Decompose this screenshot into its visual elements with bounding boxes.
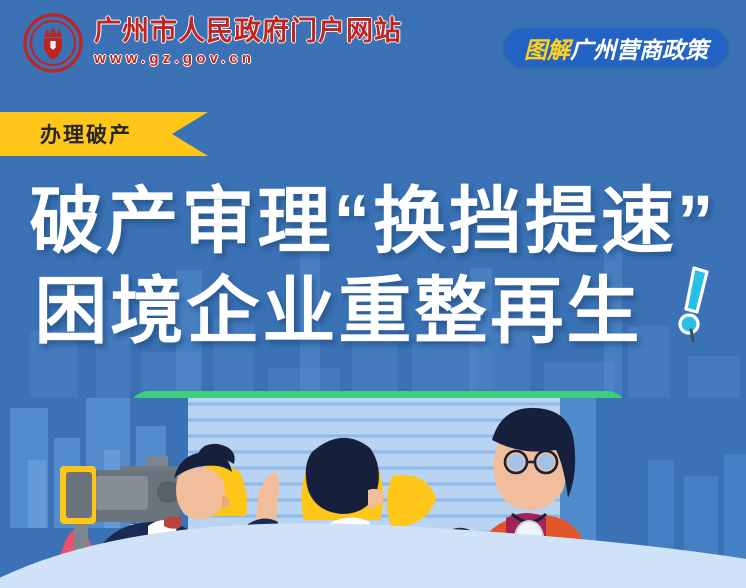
site-title: 广州市人民政府门户网站 [94,17,402,45]
badge-highlight-text: 图解 [524,31,570,65]
press-conference-interview-illustration [0,398,746,588]
guangzhou-city-emblem-icon [22,12,84,74]
headline-block: 破产审理“换挡提速” 困境企业重整再生 [0,178,746,356]
site-url: www.gz.gov.cn [94,48,402,69]
poster-root: 广州市人民政府门户网站 www.gz.gov.cn 图解 广州营商政策 办理破产… [0,0,746,588]
exclamation-mark-icon [672,266,712,342]
headline-line-2-wrap: 困境企业重整再生 [0,266,746,356]
site-header: 广州市人民政府门户网站 www.gz.gov.cn 图解 广州营商政策 [0,0,746,86]
headline-line-2: 困境企业重整再生 [34,271,642,352]
site-logo[interactable]: 广州市人民政府门户网站 www.gz.gov.cn [22,12,402,74]
badge-rest-text: 广州营商政策 [570,31,708,65]
logo-text-block: 广州市人民政府门户网站 www.gz.gov.cn [94,17,402,69]
headline-line-1: 破产审理“换挡提速” [0,178,746,266]
graphic-explainer-badge[interactable]: 图解 广州营商政策 [504,28,728,67]
category-ribbon-label: 办理破产 [0,119,132,149]
